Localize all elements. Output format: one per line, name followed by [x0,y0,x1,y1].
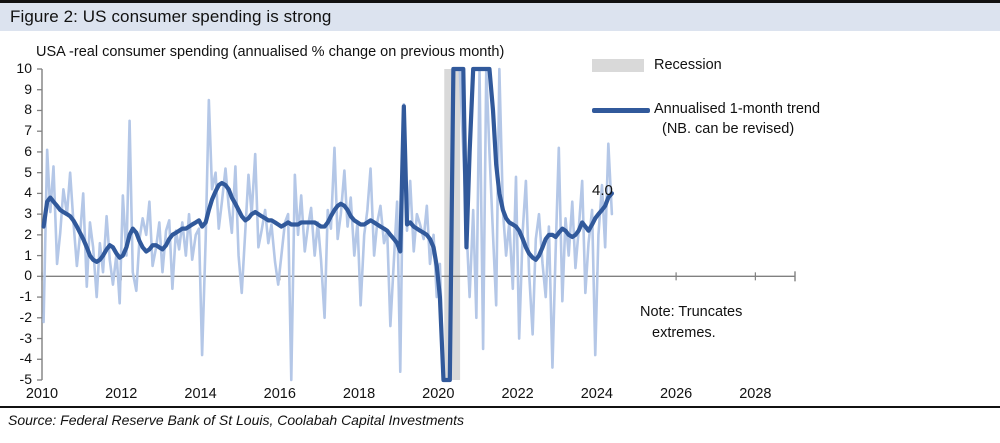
legend-item-recession: Recession [592,55,992,75]
x-axis-tick-label-8: 2026 [646,386,706,402]
chart-note-line2: extremes. [652,323,742,344]
end-value-annotation: 4.0 [592,182,613,199]
y-axis-tick-label-2: 8 [4,101,32,117]
y-axis-tick-label-15: -5 [4,371,32,387]
trend-line-swatch-icon [592,108,650,113]
legend-label-trend-line2: (NB. can be revised) [662,119,992,139]
y-axis-tick-label-9: 1 [4,247,32,263]
y-axis-tick-label-4: 6 [4,143,32,159]
y-axis-tick-label-10: 0 [4,267,32,283]
x-axis-tick-label-1: 2012 [91,386,151,402]
x-axis-tick-label-0: 2010 [12,386,72,402]
x-axis-tick-label-9: 2028 [725,386,785,402]
x-axis-tick-label-5: 2020 [408,386,468,402]
legend-label-recession: Recession [654,55,992,75]
source-top-rule [0,406,1000,408]
y-axis-tick-label-14: -4 [4,350,32,366]
y-axis-tick-label-13: -3 [4,330,32,346]
x-axis-tick-label-6: 2022 [488,386,548,402]
chart-note-line1: Note: Truncates [640,304,742,320]
legend-label-trend-line1: Annualised 1-month trend [654,99,992,119]
recession-swatch-icon [592,59,644,72]
y-axis-tick-label-7: 3 [4,205,32,221]
x-axis-tick-label-3: 2016 [250,386,310,402]
chart-legend: Recession Annualised 1-month trend (NB. … [592,55,992,163]
x-axis-tick-label-2: 2014 [171,386,231,402]
source-line: Source: Federal Reserve Bank of St Louis… [8,412,464,428]
y-axis-tick-label-11: -1 [4,288,32,304]
x-axis-tick-label-4: 2018 [329,386,389,402]
y-axis-tick-label-6: 4 [4,184,32,200]
y-axis-tick-label-1: 9 [4,81,32,97]
zero-line-group [42,271,795,281]
chart-note: Note: Truncates extremes. [640,302,742,344]
y-axis-tick-label-0: 10 [4,60,32,76]
y-axis-tick-label-8: 2 [4,226,32,242]
y-axis-tick-label-5: 5 [4,164,32,180]
x-axis-tick-label-7: 2024 [567,386,627,402]
legend-item-trend: Annualised 1-month trend (NB. can be rev… [592,99,992,139]
y-axis-tick-label-3: 7 [4,122,32,138]
figure-container: Figure 2: US consumer spending is strong… [0,0,1000,443]
y-axis-tick-label-12: -2 [4,309,32,325]
